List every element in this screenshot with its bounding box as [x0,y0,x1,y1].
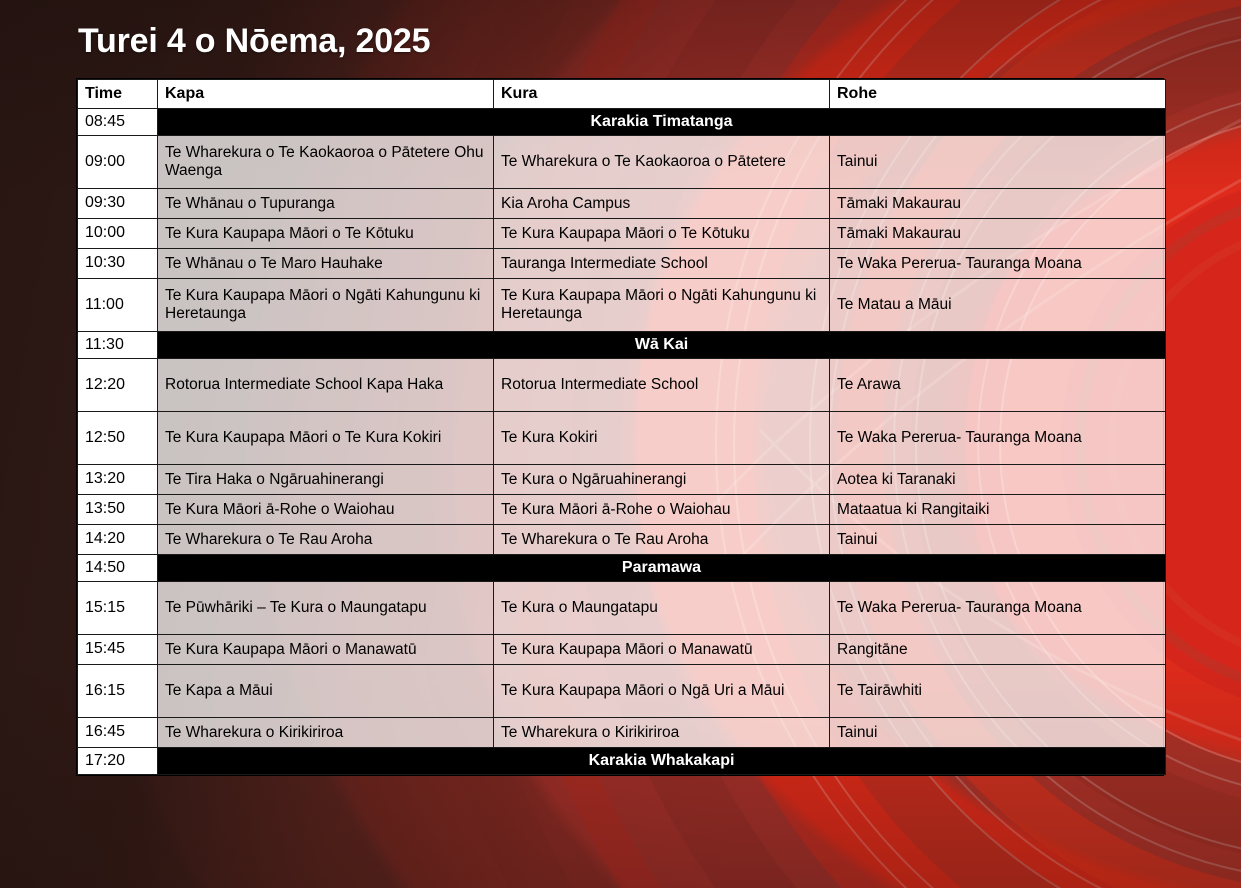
cell-rohe: Te Waka Pererua- Tauranga Moana [830,249,1166,279]
cell-kura: Kia Aroha Campus [494,189,830,219]
banner-label: Karakia Whakakapi [158,748,1166,775]
cell-kura: Te Kura Kokiri [494,412,830,465]
schedule-table-row: 15:15Te Pūwhāriki – Te Kura o Maungatapu… [78,582,1166,635]
cell-kapa: Rotorua Intermediate School Kapa Haka [158,359,494,412]
cell-rohe: Te Waka Pererua- Tauranga Moana [830,412,1166,465]
schedule-table-row: 09:00Te Wharekura o Te Kaokaoroa o Pātet… [78,136,1166,189]
cell-rohe: Tainui [830,718,1166,748]
cell-time: 16:45 [78,718,158,748]
cell-time: 15:45 [78,635,158,665]
cell-kura: Te Kura Kaupapa Māori o Te Kōtuku [494,219,830,249]
cell-kura: Te Kura o Ngāruahinerangi [494,465,830,495]
cell-time: 10:00 [78,219,158,249]
cell-kapa: Te Kura Kaupapa Māori o Ngāti Kahungunu … [158,279,494,332]
schedule-table-row: 10:00Te Kura Kaupapa Māori o Te KōtukuTe… [78,219,1166,249]
schedule-table-row: 09:30Te Whānau o TupurangaKia Aroha Camp… [78,189,1166,219]
cell-kapa: Te Kura Kaupapa Māori o Manawatū [158,635,494,665]
cell-time: 13:50 [78,495,158,525]
column-header-time: Time [78,80,158,109]
cell-kapa: Te Kura Kaupapa Māori o Te Kōtuku [158,219,494,249]
cell-time: 12:50 [78,412,158,465]
cell-time: 11:30 [78,332,158,359]
cell-rohe: Aotea ki Taranaki [830,465,1166,495]
cell-rohe: Te Matau a Māui [830,279,1166,332]
schedule-table: Time Kapa Kura Rohe 08:45Karakia Timatan… [77,79,1166,775]
schedule-table-row: 16:45Te Wharekura o KirikiriroaTe Wharek… [78,718,1166,748]
cell-rohe: Mataatua ki Rangitaiki [830,495,1166,525]
cell-kura: Te Kura Kaupapa Māori o Ngāti Kahungunu … [494,279,830,332]
schedule-table-row: 13:50Te Kura Māori ā-Rohe o WaiohauTe Ku… [78,495,1166,525]
column-header-rohe: Rohe [830,80,1166,109]
cell-kura: Te Kura Kaupapa Māori o Ngā Uri a Māui [494,665,830,718]
schedule-table-row: 16:15Te Kapa a MāuiTe Kura Kaupapa Māori… [78,665,1166,718]
cell-time: 17:20 [78,748,158,775]
cell-kura: Te Wharekura o Kirikiriroa [494,718,830,748]
schedule-table-row: 14:20Te Wharekura o Te Rau ArohaTe Whare… [78,525,1166,555]
schedule-banner-row: 17:20Karakia Whakakapi [78,748,1166,775]
cell-time: 13:20 [78,465,158,495]
schedule-table-row: 15:45Te Kura Kaupapa Māori o ManawatūTe … [78,635,1166,665]
cell-kura: Te Kura Māori ā-Rohe o Waiohau [494,495,830,525]
cell-kura: Rotorua Intermediate School [494,359,830,412]
cell-time: 08:45 [78,109,158,136]
cell-kapa: Te Wharekura o Te Kaokaoroa o Pātetere O… [158,136,494,189]
schedule-table-row: 12:20Rotorua Intermediate School Kapa Ha… [78,359,1166,412]
cell-rohe: Tainui [830,525,1166,555]
cell-rohe: Rangitāne [830,635,1166,665]
cell-kura: Tauranga Intermediate School [494,249,830,279]
cell-kura: Te Kura Kaupapa Māori o Manawatū [494,635,830,665]
cell-kapa: Te Kura Māori ā-Rohe o Waiohau [158,495,494,525]
banner-label: Wā Kai [158,332,1166,359]
cell-kapa: Te Tira Haka o Ngāruahinerangi [158,465,494,495]
cell-rohe: Tāmaki Makaurau [830,189,1166,219]
cell-time: 09:30 [78,189,158,219]
cell-kapa: Te Whānau o Tupuranga [158,189,494,219]
banner-label: Karakia Timatanga [158,109,1166,136]
cell-kapa: Te Kapa a Māui [158,665,494,718]
page-title: Turei 4 o Nōema, 2025 [78,22,430,61]
schedule-banner-row: 14:50Paramawa [78,555,1166,582]
cell-rohe: Te Tairāwhiti [830,665,1166,718]
schedule-table-container: Time Kapa Kura Rohe 08:45Karakia Timatan… [76,78,1164,776]
schedule-table-row: 13:20Te Tira Haka o NgāruahinerangiTe Ku… [78,465,1166,495]
cell-time: 16:15 [78,665,158,718]
cell-kapa: Te Kura Kaupapa Māori o Te Kura Kokiri [158,412,494,465]
cell-kapa: Te Wharekura o Kirikiriroa [158,718,494,748]
cell-time: 10:30 [78,249,158,279]
cell-kapa: Te Pūwhāriki – Te Kura o Maungatapu [158,582,494,635]
schedule-table-row: 10:30Te Whānau o Te Maro HauhakeTauranga… [78,249,1166,279]
schedule-table-body: 08:45Karakia Timatanga09:00Te Wharekura … [78,109,1166,775]
cell-kura: Te Wharekura o Te Kaokaoroa o Pātetere [494,136,830,189]
banner-label: Paramawa [158,555,1166,582]
cell-kura: Te Kura o Maungatapu [494,582,830,635]
cell-kura: Te Wharekura o Te Rau Aroha [494,525,830,555]
cell-time: 14:50 [78,555,158,582]
column-header-kapa: Kapa [158,80,494,109]
schedule-banner-row: 11:30Wā Kai [78,332,1166,359]
cell-rohe: Tāmaki Makaurau [830,219,1166,249]
cell-rohe: Tainui [830,136,1166,189]
schedule-banner-row: 08:45Karakia Timatanga [78,109,1166,136]
cell-kapa: Te Wharekura o Te Rau Aroha [158,525,494,555]
schedule-table-row: 12:50Te Kura Kaupapa Māori o Te Kura Kok… [78,412,1166,465]
cell-rohe: Te Arawa [830,359,1166,412]
cell-kapa: Te Whānau o Te Maro Hauhake [158,249,494,279]
cell-time: 11:00 [78,279,158,332]
column-header-kura: Kura [494,80,830,109]
cell-time: 12:20 [78,359,158,412]
schedule-table-row: 11:00Te Kura Kaupapa Māori o Ngāti Kahun… [78,279,1166,332]
cell-time: 09:00 [78,136,158,189]
table-header-row: Time Kapa Kura Rohe [78,80,1166,109]
cell-time: 14:20 [78,525,158,555]
cell-rohe: Te Waka Pererua- Tauranga Moana [830,582,1166,635]
cell-time: 15:15 [78,582,158,635]
